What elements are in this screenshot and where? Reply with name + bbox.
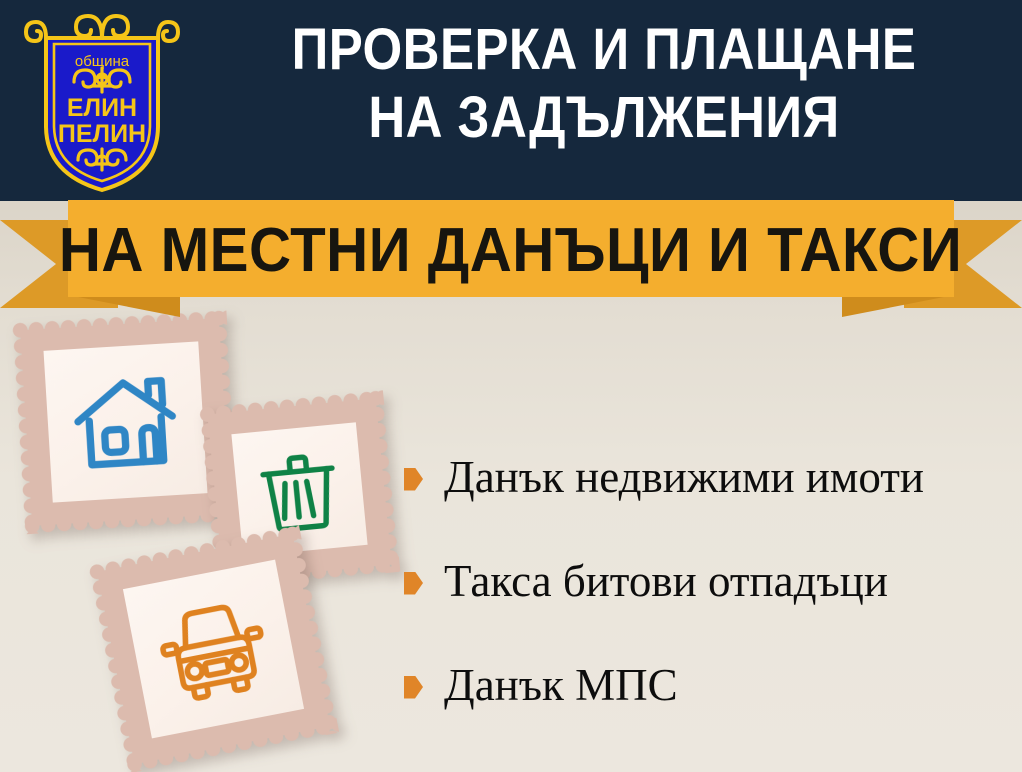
poster-canvas: община ЕЛИН ПЕЛИН (0, 0, 1022, 772)
house-icon (65, 362, 186, 481)
coat-of-arms: община ЕЛИН ПЕЛИН (22, 8, 182, 194)
tax-type-list: Данък недвижими имоти Такса битови отпад… (404, 425, 1014, 737)
tax-item-label: Данък недвижими имоти (444, 452, 924, 502)
title-line-2: НА ЗАДЪЛЖЕНИЯ (236, 84, 972, 152)
crest-name-line-1: ЕЛИН (67, 94, 137, 122)
coat-of-arms-icon: община ЕЛИН ПЕЛИН (22, 8, 182, 194)
tax-item-label: Такса битови отпадъци (444, 556, 888, 606)
stamp-paper (123, 560, 304, 739)
list-item[interactable]: Данък МПС (404, 633, 1014, 737)
car-front-icon (146, 583, 280, 715)
crest-name-line-2: ПЕЛИН (58, 120, 146, 148)
ribbon-band: НА МЕСТНИ ДАНЪЦИ И ТАКСИ (68, 200, 954, 297)
subtitle-ribbon: НА МЕСТНИ ДАНЪЦИ И ТАКСИ (0, 199, 1022, 311)
list-item[interactable]: Такса битови отпадъци (404, 529, 1014, 633)
arrow-bullet-icon (404, 468, 423, 491)
stamp-paper (44, 341, 208, 502)
header-banner: община ЕЛИН ПЕЛИН (0, 0, 1022, 201)
list-item[interactable]: Данък недвижими имоти (404, 425, 1014, 529)
tax-item-label: Данък МПС (444, 660, 678, 710)
stamp-perforated-border (88, 524, 340, 772)
page-title: ПРОВЕРКА И ПЛАЩАНЕ НА ЗАДЪЛЖЕНИЯ (186, 16, 1022, 152)
trash-bin-icon (249, 440, 350, 539)
arrow-bullet-icon (404, 676, 423, 699)
title-line-1: ПРОВЕРКА И ПЛАЩАНЕ (236, 16, 972, 84)
ribbon-label: НА МЕСТНИ ДАНЪЦИ И ТАКСИ (59, 220, 962, 282)
vehicle-stamp (88, 524, 340, 772)
arrow-bullet-icon (404, 572, 423, 595)
